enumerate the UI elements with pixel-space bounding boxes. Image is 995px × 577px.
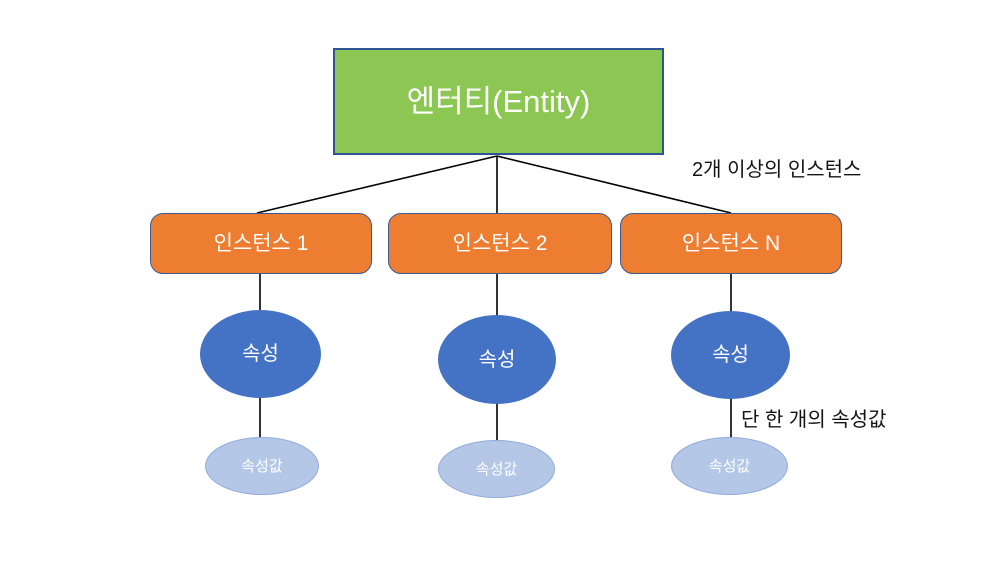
attribute-node-1[interactable]: 속성 <box>200 310 321 398</box>
attribute-value-label-3: 속성값 <box>709 459 750 474</box>
attribute-value-node-3[interactable]: 속성값 <box>671 437 788 495</box>
attribute-label-2: 속성 <box>479 350 516 370</box>
entity-label: 엔터티(Entity) <box>407 86 591 117</box>
attribute-value-node-2[interactable]: 속성값 <box>438 440 555 498</box>
attribute-node-2[interactable]: 속성 <box>438 315 556 404</box>
connector-entity-to-instance-1 <box>257 156 497 213</box>
instance-label-1: 인스턴스 1 <box>214 233 309 254</box>
diagram-canvas: 엔터티(Entity) 인스턴스 1 인스턴스 2 인스턴스 N 속성 속성 속… <box>0 0 995 577</box>
attribute-label-1: 속성 <box>242 344 279 364</box>
attribute-label-3: 속성 <box>712 345 749 365</box>
annotation-single-attribute-value: 단 한 개의 속성값 <box>741 410 886 430</box>
instance-node-2[interactable]: 인스턴스 2 <box>388 213 612 274</box>
instance-label-3: 인스턴스 N <box>682 233 780 254</box>
entity-node[interactable]: 엔터티(Entity) <box>333 48 664 155</box>
instance-node-1[interactable]: 인스턴스 1 <box>150 213 372 274</box>
attribute-node-3[interactable]: 속성 <box>671 311 790 399</box>
annotation-multiple-instances: 2개 이상의 인스턴스 <box>692 160 861 180</box>
instance-label-2: 인스턴스 2 <box>453 233 548 254</box>
attribute-value-node-1[interactable]: 속성값 <box>205 437 319 495</box>
attribute-value-label-1: 속성값 <box>241 459 282 474</box>
instance-node-3[interactable]: 인스턴스 N <box>620 213 842 274</box>
attribute-value-label-2: 속성값 <box>476 462 517 477</box>
